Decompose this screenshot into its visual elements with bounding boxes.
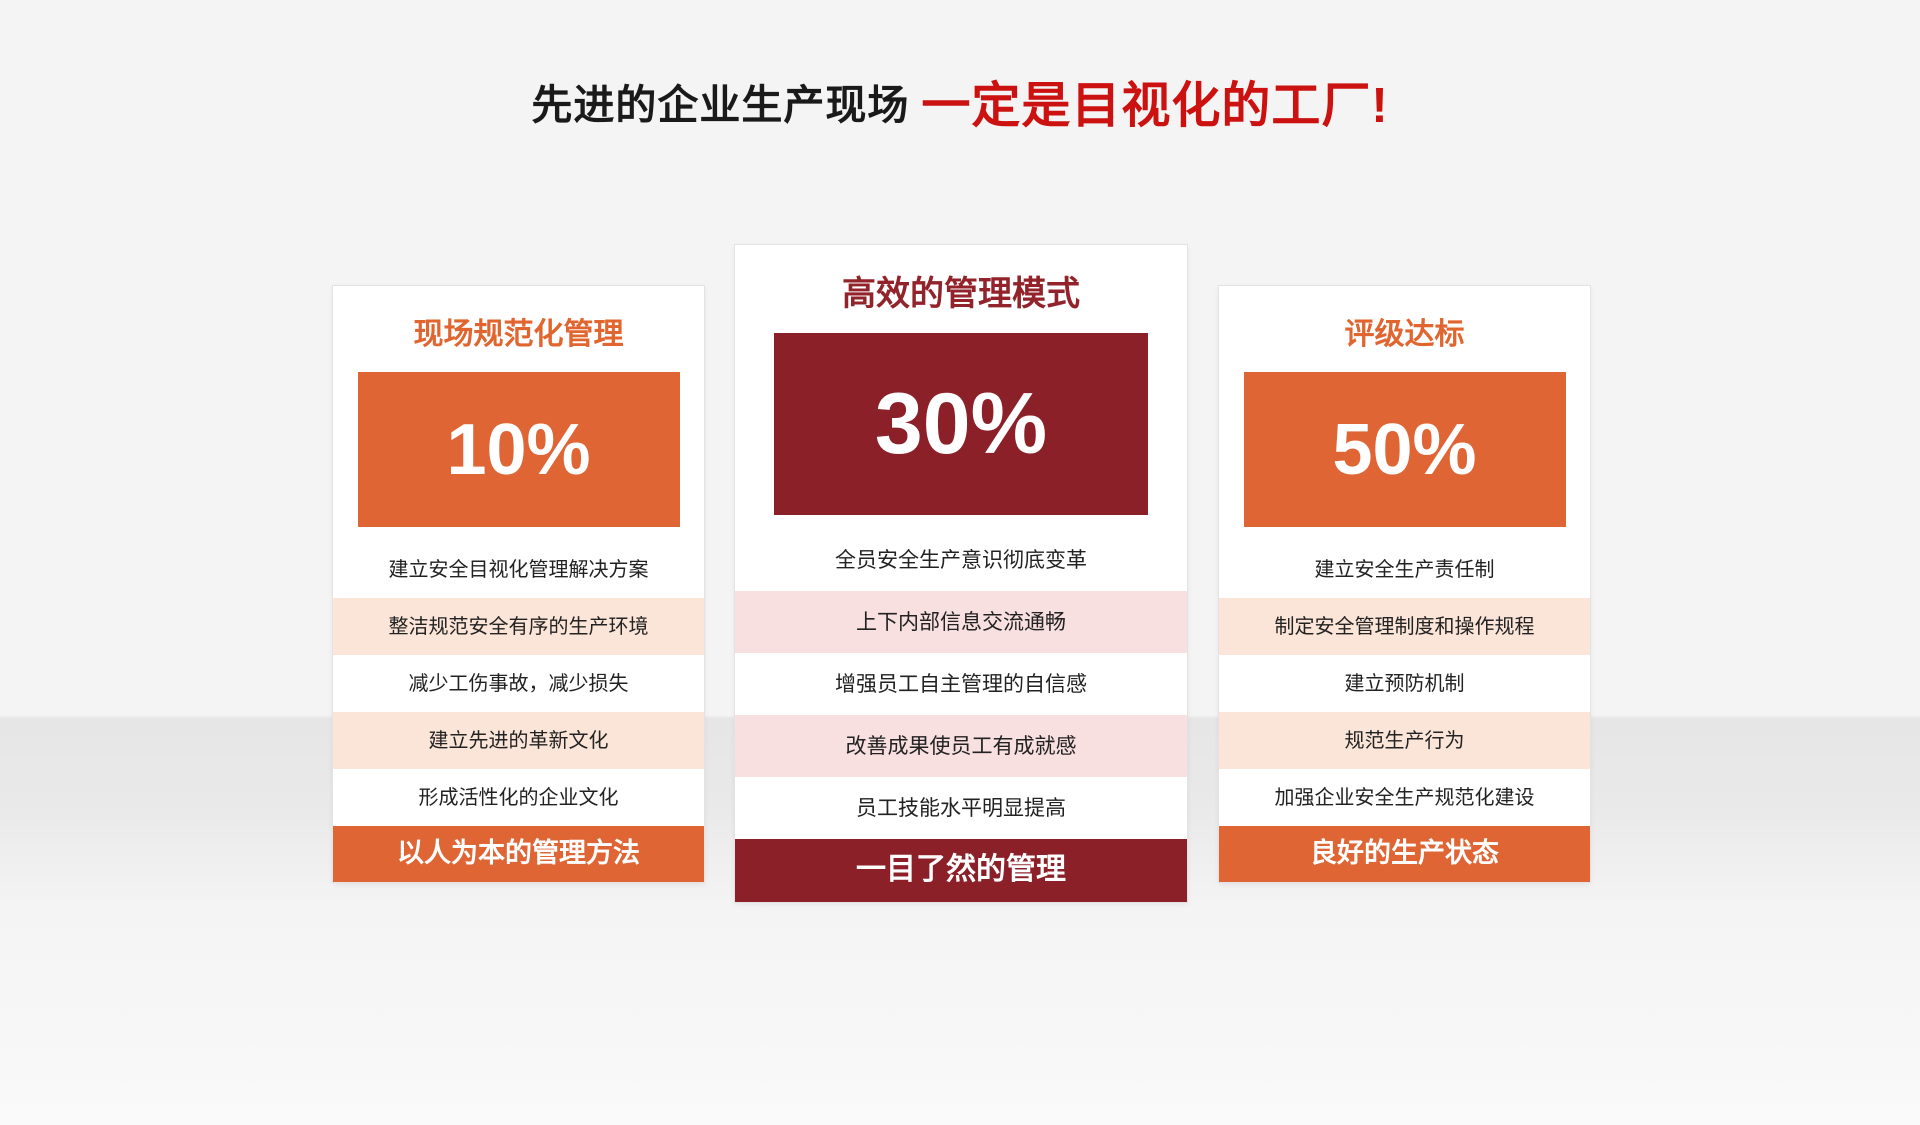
list-item: 建立安全目视化管理解决方案 [333, 541, 704, 598]
card-left-heading: 现场规范化管理 [333, 286, 704, 372]
list-item: 规范生产行为 [1219, 712, 1590, 769]
list-item: 形成活性化的企业文化 [333, 769, 704, 826]
card-left-footer: 以人为本的管理方法 [333, 826, 704, 882]
card-middle-footer: 一目了然的管理 [735, 839, 1187, 902]
list-item: 改善成果使员工有成就感 [735, 715, 1187, 777]
list-item: 整洁规范安全有序的生产环境 [333, 598, 704, 655]
card-right-footer: 良好的生产状态 [1219, 826, 1590, 882]
card-left-percent-block: 10% [358, 372, 680, 527]
card-middle-list: 全员安全生产意识彻底变革 上下内部信息交流通畅 增强员工自主管理的自信感 改善成… [735, 529, 1187, 839]
title-lead-text: 先进的企业生产现场 [531, 82, 909, 128]
card-right[interactable]: 评级达标 50% 建立安全生产责任制 制定安全管理制度和操作规程 建立预防机制 … [1219, 286, 1590, 882]
title-highlight-text: 一定是目视化的工厂! [921, 79, 1388, 133]
card-right-heading: 评级达标 [1219, 286, 1590, 372]
card-left[interactable]: 现场规范化管理 10% 建立安全目视化管理解决方案 整洁规范安全有序的生产环境 … [333, 286, 704, 882]
card-middle-percent-block: 30% [774, 333, 1148, 515]
list-item: 加强企业安全生产规范化建设 [1219, 769, 1590, 826]
list-item: 全员安全生产意识彻底变革 [735, 529, 1187, 591]
list-item: 建立预防机制 [1219, 655, 1590, 712]
list-item: 上下内部信息交流通畅 [735, 591, 1187, 653]
card-left-list: 建立安全目视化管理解决方案 整洁规范安全有序的生产环境 减少工伤事故，减少损失 … [333, 541, 704, 826]
slide-title: 先进的企业生产现场一定是目视化的工厂! [0, 82, 1920, 131]
list-item: 减少工伤事故，减少损失 [333, 655, 704, 712]
list-item: 增强员工自主管理的自信感 [735, 653, 1187, 715]
list-item: 建立安全生产责任制 [1219, 541, 1590, 598]
background-lower [0, 900, 1920, 1125]
list-item: 建立先进的革新文化 [333, 712, 704, 769]
card-right-percent-block: 50% [1244, 372, 1566, 527]
list-item: 制定安全管理制度和操作规程 [1219, 598, 1590, 655]
card-middle[interactable]: 高效的管理模式 30% 全员安全生产意识彻底变革 上下内部信息交流通畅 增强员工… [735, 245, 1187, 902]
list-item: 员工技能水平明显提高 [735, 777, 1187, 839]
card-right-list: 建立安全生产责任制 制定安全管理制度和操作规程 建立预防机制 规范生产行为 加强… [1219, 541, 1590, 826]
card-left-percent-value: 10% [446, 414, 590, 486]
card-middle-heading: 高效的管理模式 [735, 245, 1187, 333]
card-middle-percent-value: 30% [875, 381, 1047, 467]
card-right-percent-value: 50% [1332, 414, 1476, 486]
